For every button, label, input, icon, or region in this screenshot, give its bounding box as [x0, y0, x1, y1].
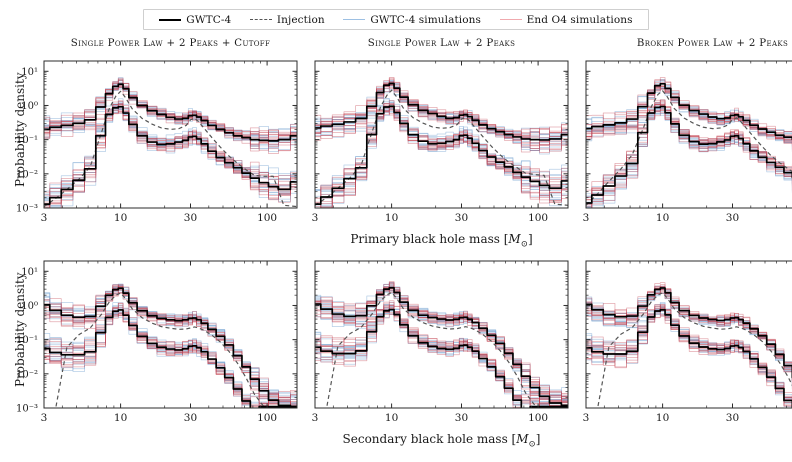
plot-panel-secondary-spl2p[interactable]: 31030100 — [281, 255, 574, 430]
plot-panel-secondary-spl2pc[interactable]: 3103010010¹10⁰10⁻¹10⁻²10⁻³ — [10, 255, 303, 430]
x-axis-label-primary-text: Primary black hole mass — [350, 232, 503, 246]
x-tick-label: 3 — [41, 212, 48, 224]
legend-line-end-o4-simulations-icon — [500, 19, 522, 20]
x-tick-label: 10 — [385, 212, 398, 224]
plot-panel-primary-spl2pc[interactable]: 3103010010¹10⁰10⁻¹10⁻²10⁻³ — [10, 55, 303, 230]
panel-title-1: Single Power Law + 2 Peaks — [315, 38, 568, 49]
x-tick-label: 10 — [656, 212, 669, 224]
y-tick-label: 10⁰ — [21, 301, 38, 312]
legend-entry-gwtc4-simulations: GWTC-4 simulations — [343, 14, 481, 26]
legend-label-gwtc4-simulations: GWTC-4 simulations — [370, 14, 481, 26]
panel-title-2: Broken Power Law + 2 Peaks — [586, 38, 792, 49]
y-tick-label: 10⁻¹ — [16, 135, 38, 146]
legend-line-gwtc4-simulations-icon — [343, 19, 365, 20]
legend-line-injection-icon — [250, 19, 272, 20]
x-tick-label: 30 — [455, 412, 468, 424]
y-tick-label: 10⁻² — [16, 369, 38, 380]
solar-mass-unit-primary: [M⊙] — [504, 232, 533, 246]
legend-label-end-o4-simulations: End O4 simulations — [527, 14, 633, 26]
x-tick-label: 30 — [184, 412, 197, 424]
x-tick-label: 3 — [312, 412, 319, 424]
solar-mass-unit-secondary: [M⊙] — [512, 432, 541, 446]
x-tick-label: 30 — [455, 212, 468, 224]
legend-line-gwtc4-icon — [159, 19, 181, 21]
plot-panel-secondary-bpl2p[interactable]: 31030100 — [552, 255, 792, 430]
x-tick-label: 10 — [114, 212, 127, 224]
x-tick-label: 30 — [726, 412, 739, 424]
legend-entry-end-o4-simulations: End O4 simulations — [500, 14, 633, 26]
figure-root: GWTC-4 Injection GWTC-4 simulations End … — [0, 0, 792, 462]
x-tick-label: 3 — [41, 412, 48, 424]
x-axis-label-secondary-text: Secondary black hole mass — [343, 432, 512, 446]
y-tick-label: 10⁻² — [16, 169, 38, 180]
x-tick-label: 3 — [583, 412, 590, 424]
legend-entry-gwtc4: GWTC-4 — [159, 14, 231, 26]
y-tick-label: 10⁻³ — [16, 204, 38, 215]
x-tick-label: 3 — [583, 212, 590, 224]
x-tick-label: 30 — [726, 212, 739, 224]
plot-panel-primary-spl2p[interactable]: 31030100 — [281, 55, 574, 230]
y-tick-label: 10⁰ — [21, 101, 38, 112]
x-tick-label: 100 — [528, 412, 548, 424]
y-tick-label: 10¹ — [21, 67, 38, 78]
legend-label-injection: Injection — [277, 14, 325, 26]
x-tick-label: 10 — [656, 412, 669, 424]
x-tick-label: 30 — [184, 212, 197, 224]
panel-title-0: Single Power Law + 2 Peaks + Cutoff — [44, 38, 297, 49]
y-tick-label: 10⁻³ — [16, 404, 38, 415]
x-tick-label: 10 — [385, 412, 398, 424]
y-tick-label: 10¹ — [21, 267, 38, 278]
x-tick-label: 3 — [312, 212, 319, 224]
legend-label-gwtc4: GWTC-4 — [186, 14, 231, 26]
figure-legend: GWTC-4 Injection GWTC-4 simulations End … — [143, 9, 649, 30]
x-tick-label: 100 — [528, 212, 548, 224]
x-axis-label-secondary: Secondary black hole mass [M⊙] — [44, 432, 792, 449]
x-axis-label-primary: Primary black hole mass [M⊙] — [44, 232, 792, 249]
plot-panel-primary-bpl2p[interactable]: 31030100 — [552, 55, 792, 230]
y-tick-label: 10⁻¹ — [16, 335, 38, 346]
legend-entry-injection: Injection — [250, 14, 325, 26]
x-tick-label: 10 — [114, 412, 127, 424]
x-tick-label: 100 — [257, 212, 277, 224]
x-tick-label: 100 — [257, 412, 277, 424]
